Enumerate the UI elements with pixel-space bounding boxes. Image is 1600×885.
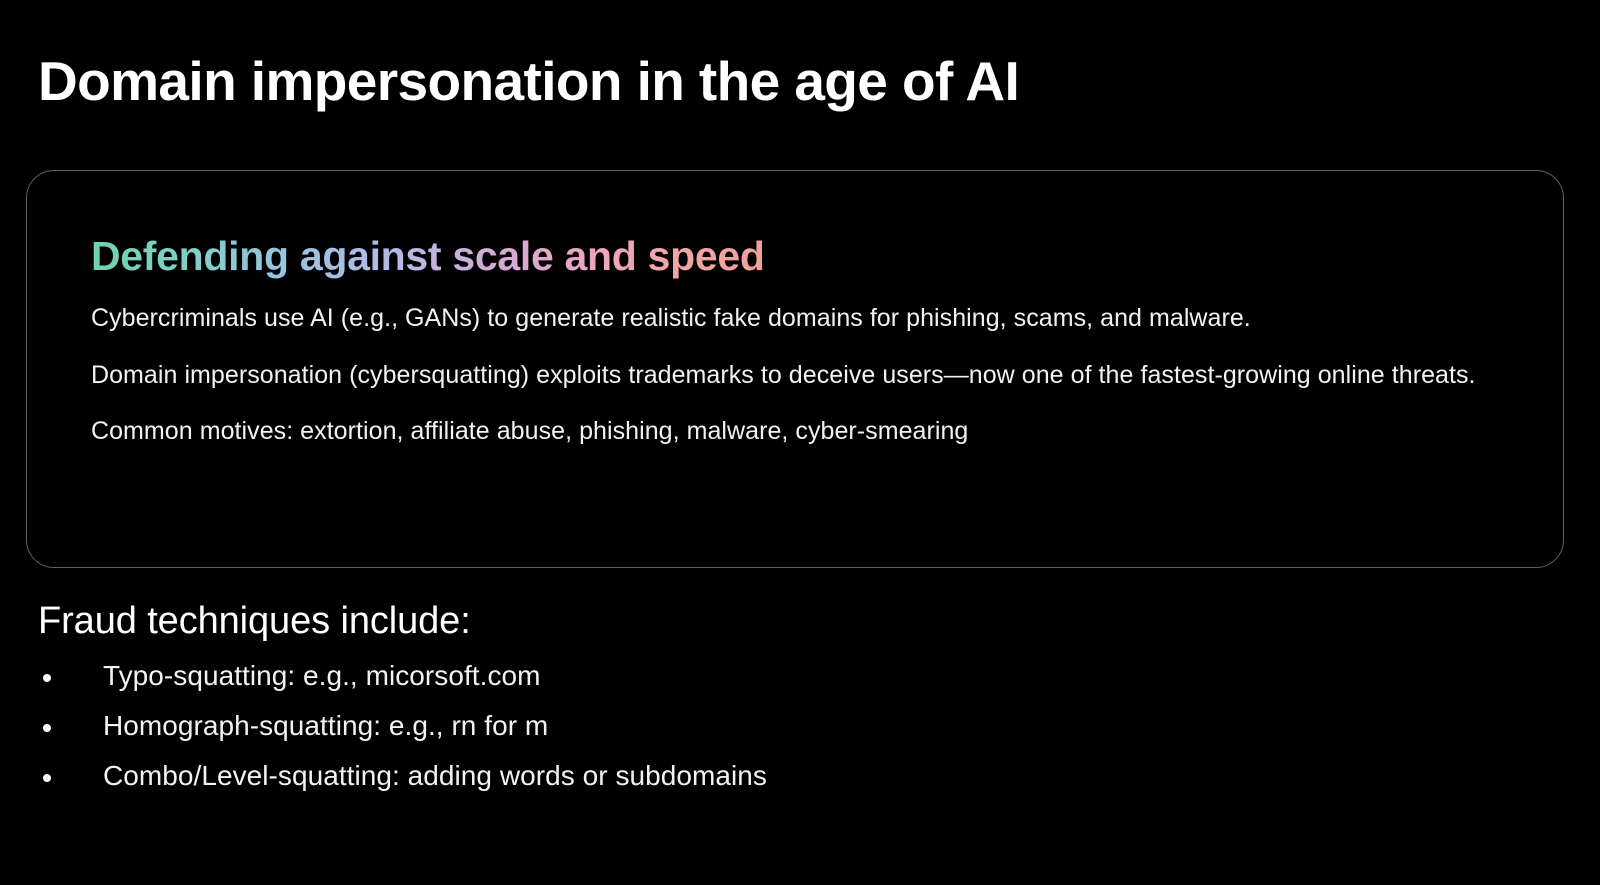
- page-title: Domain impersonation in the age of AI: [38, 51, 1019, 112]
- slide-canvas: Domain impersonation in the age of AI De…: [0, 0, 1600, 885]
- list-item: Typo-squatting: e.g., micorsoft.com: [38, 662, 1438, 690]
- card-body: Cybercriminals use AI (e.g., GANs) to ge…: [91, 301, 1511, 449]
- list-item-label: Homograph-squatting: e.g., rn for m: [103, 710, 548, 741]
- list-item-label: Combo/Level-squatting: adding words or s…: [103, 760, 767, 791]
- list-item: Homograph-squatting: e.g., rn for m: [38, 712, 1438, 740]
- card-paragraph: Common motives: extortion, affiliate abu…: [91, 414, 1511, 449]
- bullet-dot-icon: [43, 774, 51, 782]
- highlight-card: Defending against scale and speed Cyberc…: [26, 170, 1564, 568]
- card-heading: Defending against scale and speed: [91, 233, 765, 280]
- fraud-techniques-list: Typo-squatting: e.g., micorsoft.com Homo…: [38, 662, 1438, 812]
- card-paragraph: Cybercriminals use AI (e.g., GANs) to ge…: [91, 301, 1511, 336]
- bullet-dot-icon: [43, 674, 51, 682]
- bullet-dot-icon: [43, 724, 51, 732]
- list-item-label: Typo-squatting: e.g., micorsoft.com: [103, 660, 541, 691]
- list-item: Combo/Level-squatting: adding words or s…: [38, 762, 1438, 790]
- card-paragraph: Domain impersonation (cybersquatting) ex…: [91, 358, 1511, 393]
- fraud-section-heading: Fraud techniques include:: [38, 600, 471, 643]
